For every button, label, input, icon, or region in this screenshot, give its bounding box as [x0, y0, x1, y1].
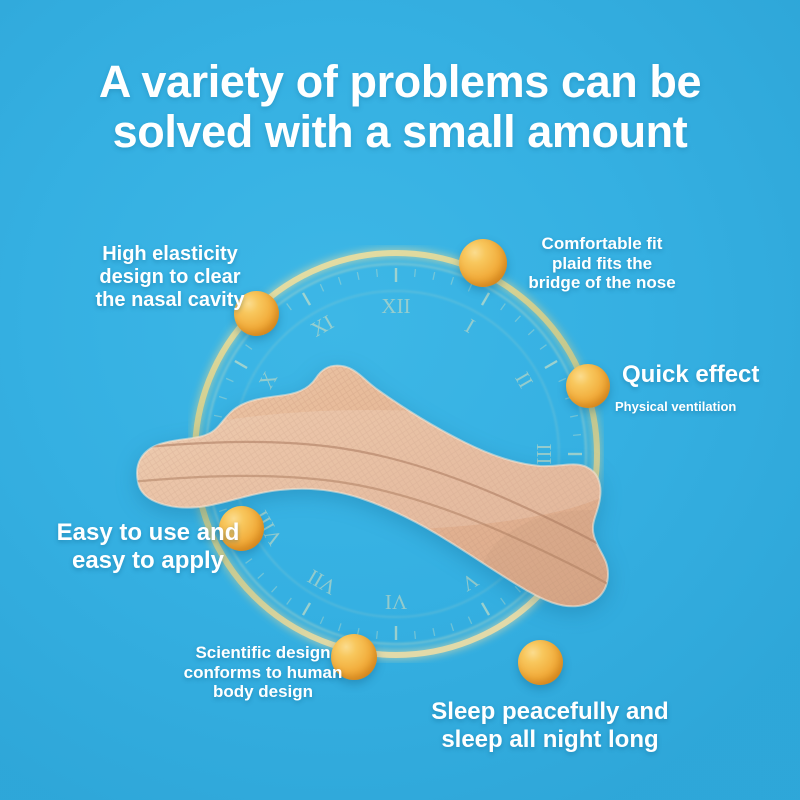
clock-numeral: XII [381, 294, 410, 318]
feature-label-high-elasticity: High elasticity design to clear the nasa… [70, 243, 270, 313]
bullet-dot-comfortable-fit[interactable] [459, 239, 507, 287]
feature-label-comfortable-fit: Comfortable fit plaid fits the bridge of… [512, 234, 692, 293]
feature-label-physical-ventilation: Physical ventilation [615, 399, 800, 414]
headline-line-1: A variety of problems can be [0, 57, 800, 107]
poster-headline: A variety of problems can be solved with… [0, 57, 800, 157]
feature-label-scientific-design: Scientific design conforms to human body… [166, 643, 360, 702]
headline-line-2: solved with a small amount [0, 107, 800, 157]
bullet-dot-quick-effect[interactable] [566, 364, 610, 408]
feature-label-easy-to-use: Easy to use and easy to apply [40, 519, 256, 575]
product-feature-poster: XIIIIIIIIIIIIVVIVIIVIIIIXXXI [0, 0, 800, 800]
feature-label-quick-effect: Quick effect [622, 361, 800, 389]
bullet-dot-sleep-peacefully[interactable] [518, 640, 563, 685]
feature-label-sleep-peacefully: Sleep peacefully and sleep all night lon… [405, 698, 695, 754]
